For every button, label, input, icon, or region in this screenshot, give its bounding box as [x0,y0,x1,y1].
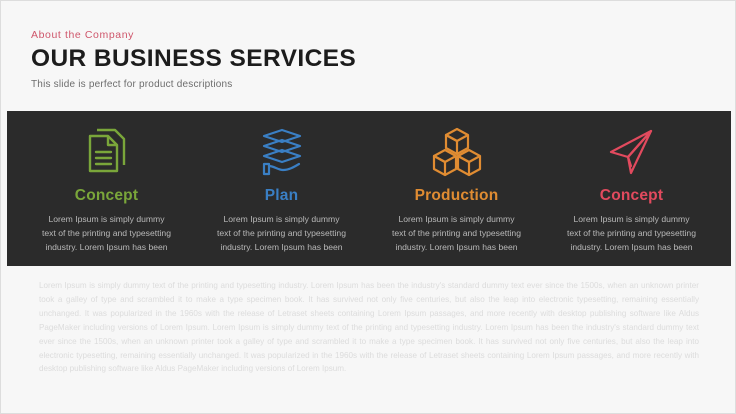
service-column-concept-document[interactable]: Concept Lorem Ipsum is simply dummy text… [19,121,194,258]
service-title: Plan [265,187,299,205]
service-title: Concept [75,187,138,205]
document-lines-icon [84,121,130,183]
page-subtitle: This slide is perfect for product descri… [31,79,691,90]
service-column-concept-plane[interactable]: Concept Lorem Ipsum is simply dummy text… [544,121,719,258]
slide-header: About the Company OUR BUSINESS SERVICES … [31,29,691,90]
slide-canvas: About the Company OUR BUSINESS SERVICES … [0,0,736,414]
service-title: Production [415,187,499,205]
footer-paragraph: Lorem Ipsum is simply dummy text of the … [39,279,699,376]
layers-on-hand-icon [256,121,308,183]
service-column-production[interactable]: Production Lorem Ipsum is simply dummy t… [369,121,544,258]
services-columns: Concept Lorem Ipsum is simply dummy text… [7,111,731,266]
service-body: Lorem Ipsum is simply dummy text of the … [41,213,173,255]
stacked-cubes-icon [430,121,484,183]
service-column-plan[interactable]: Plan Lorem Ipsum is simply dummy text of… [194,121,369,258]
services-band: Insert Image Here Concept Lorem Ipsum is… [7,111,731,266]
page-title: OUR BUSINESS SERVICES [31,46,691,72]
paper-plane-icon [606,121,658,183]
service-body: Lorem Ipsum is simply dummy text of the … [566,213,698,255]
service-body: Lorem Ipsum is simply dummy text of the … [391,213,523,255]
service-title: Concept [600,187,663,205]
service-body: Lorem Ipsum is simply dummy text of the … [216,213,348,255]
eyebrow-label: About the Company [31,29,691,41]
